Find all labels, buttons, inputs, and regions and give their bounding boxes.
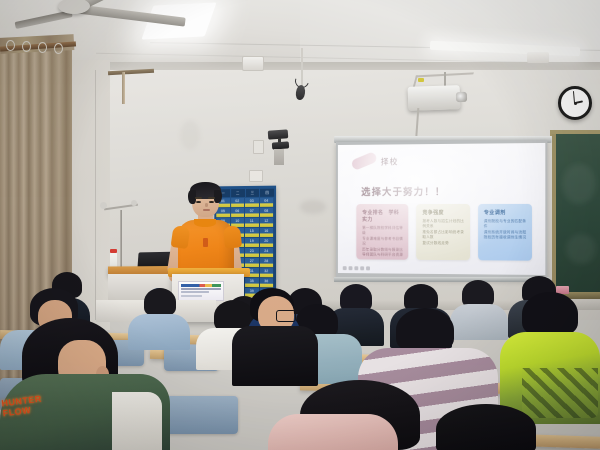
eyeglasses: [276, 310, 296, 322]
pocket-chart-cell: 07: [245, 208, 258, 217]
banner-text-line: [181, 288, 221, 290]
wall-mark: [180, 120, 200, 150]
pointer-icon[interactable]: [354, 267, 357, 270]
shirt-collar: [194, 219, 216, 227]
speaker-eyebrow: [208, 197, 215, 199]
pocket-chart-cell: 16: [259, 228, 273, 237]
pocket-chart-cell: 28: [259, 258, 273, 267]
banner-text-line: [181, 291, 209, 293]
slide-card-line: 调剂院校与专业的匹配条件: [484, 219, 527, 230]
shirt-logo: [203, 238, 208, 247]
ceiling-projector: [408, 85, 461, 111]
green-chalkboard: [552, 134, 600, 294]
shirt-sleeve: [171, 225, 191, 249]
shirt-sleeve: [223, 225, 242, 249]
slide-card-line: 第一梯队院校学科评估等级: [362, 226, 403, 237]
screen-bottom-bar: [334, 277, 549, 282]
student-body: [232, 326, 318, 386]
wall-pipe: [122, 72, 125, 104]
slide-card-title: 专业调剂: [484, 209, 527, 216]
pocket-chart-cell: 04: [259, 198, 273, 207]
pocket-chart-cell: 03: [245, 198, 258, 207]
presentation-toolbar[interactable]: [343, 265, 370, 271]
clock-center-pin: [574, 102, 577, 105]
slide-card-title: 竞争强度: [422, 209, 464, 216]
pen-icon[interactable]: [349, 266, 352, 269]
chalk-residue: [566, 234, 596, 264]
pocket-chart-cell: 19: [245, 238, 258, 247]
chalk-residue: [562, 164, 596, 204]
banner-color-bar: [181, 284, 221, 287]
wall-plate[interactable]: [253, 140, 264, 154]
slide-card-line: 导师团队与科研平台资源: [362, 253, 403, 259]
pocket-chart-cell: 15: [245, 228, 258, 237]
pocket-chart-cell: 20: [259, 238, 273, 247]
slide-card-line: 专业课难度与参考书目情况: [362, 236, 403, 247]
wall-corner: [95, 70, 96, 320]
student-hair: [144, 288, 176, 316]
curtain-ring: [22, 41, 31, 52]
student-hair: [522, 292, 578, 336]
wall-mark: [300, 200, 326, 214]
curtain-ring: [54, 43, 63, 54]
wall-clock: [558, 86, 592, 120]
student-hair: [436, 404, 536, 450]
pocket-chart-cell: 27: [245, 258, 258, 267]
bottle-cap: [110, 249, 117, 253]
pocket-chart-cell: 35: [245, 278, 258, 287]
slide-card-major: 专业排名 学科实力 第一梯队院校学科评估等级 专业课难度与参考书目情况 历年录取…: [356, 204, 408, 260]
projector-lens: [456, 92, 467, 102]
air-conditioner: [242, 56, 264, 71]
slide-card-competition: 竞争强度 报考人数与招生计划的比例关系 推免名额占比影响统考录取人数 复试分数线…: [416, 204, 469, 260]
menu-icon[interactable]: [360, 267, 363, 270]
pocket-chart-cell: 24: [259, 248, 273, 257]
pocket-chart-cell: 08: [259, 208, 273, 217]
camera-wall-plate: [274, 149, 284, 165]
chair-back: [160, 396, 238, 434]
microphone-head: [131, 200, 137, 206]
pocket-chart-header-cell: 三: [245, 189, 259, 197]
slide-card-line: 复试分数线走势: [422, 241, 464, 247]
curtain-ring: [6, 40, 15, 51]
pocket-chart-cell: 32: [259, 268, 273, 277]
projector-label: [418, 78, 424, 82]
jacket-sleeve: [112, 392, 162, 450]
slide-decoration: [350, 151, 377, 171]
pocket-chart-cell: 36: [259, 278, 273, 287]
banner-text-line: [181, 295, 202, 297]
student-body: [268, 414, 398, 450]
slide-card-line: 推免名额占比影响统考录取人数: [422, 230, 464, 241]
slide-kicker: 择校: [381, 156, 399, 167]
pocket-chart-cell: 23: [245, 248, 258, 257]
slide-card-group: 专业排名 学科实力 第一梯队院校学科评估等级 专业课难度与参考书目情况 历年录取…: [356, 204, 532, 261]
camo-pattern: [522, 368, 598, 418]
microphone-stand: [120, 210, 122, 268]
slide-heading: 选择大于努力！！: [361, 184, 445, 198]
slide-card-line: 报考人数与招生计划的比例关系: [422, 219, 464, 230]
student-body: [450, 304, 508, 340]
light-switch[interactable]: [249, 170, 263, 182]
microphone-head: [100, 202, 107, 209]
speaker-nose: [205, 203, 208, 207]
student-hair: [396, 308, 454, 352]
curtain-ring: [38, 42, 47, 53]
slide-card-title: 专业排名 学科实力: [362, 209, 403, 223]
more-icon[interactable]: [366, 267, 369, 270]
slide-card-adjust: 专业调剂 调剂院校与专业的匹配条件 调剂系统开放时间与流程 院校历年接收调剂生情…: [478, 204, 532, 261]
speaker-eye: [196, 201, 201, 203]
student-body: [128, 314, 190, 350]
speaker-eye: [209, 201, 214, 203]
speaker-hair: [214, 190, 222, 203]
classroom-photo: 择校 选择大于努力！！ 专业排名 学科实力 第一梯队院校学科评估等级 专业课难度…: [0, 0, 600, 450]
air-conditioner: [527, 52, 549, 63]
pocket-chart-header-cell: 四: [260, 189, 274, 197]
projection-screen[interactable]: 择校 选择大于努力！！ 专业排名 学科实力 第一梯队院校学科评估等级 专业课难度…: [338, 143, 545, 275]
speaker-mouth: [203, 209, 210, 211]
pocket-chart-cell: 11: [245, 218, 258, 227]
speaker-eyebrow: [195, 197, 202, 199]
projection-screen-frame: 择校 选择大于努力！！ 专业排名 学科实力 第一梯队院校学科评估等级 专业课难度…: [336, 140, 547, 280]
podium-banner: [178, 281, 224, 301]
pocket-chart-cell: 12: [259, 218, 273, 227]
play-icon[interactable]: [343, 266, 346, 269]
slide-card-line: 院校历年接收调剂生情况: [484, 235, 527, 241]
